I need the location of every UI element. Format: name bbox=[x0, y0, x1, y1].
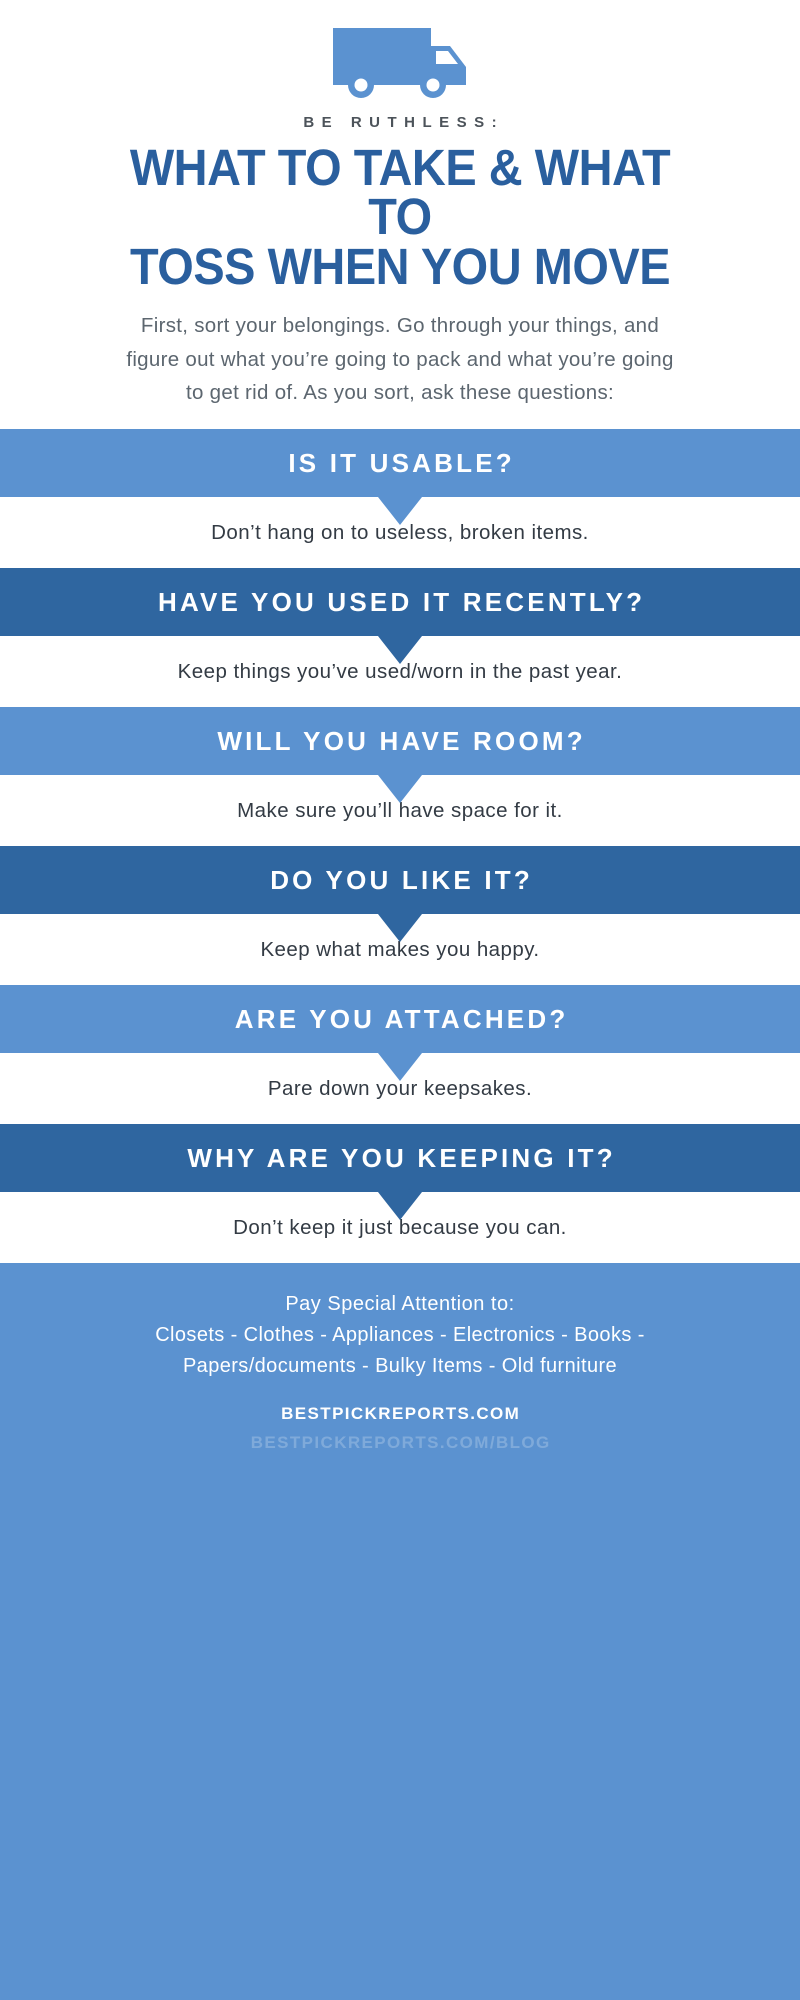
question-list: IS IT USABLE? Don’t hang on to useless, … bbox=[0, 429, 800, 1263]
header-section: BE RUTHLESS: WHAT TO TAKE & WHAT TO TOSS… bbox=[0, 0, 800, 409]
truck-icon-container bbox=[0, 14, 800, 100]
question-band: WILL YOU HAVE ROOM? bbox=[0, 707, 800, 775]
band-notch-icon bbox=[378, 914, 422, 942]
question-title: HAVE YOU USED IT RECENTLY? bbox=[155, 587, 645, 618]
question-title: WHY ARE YOU KEEPING IT? bbox=[184, 1143, 616, 1174]
footer-lead-text: Pay Special Attention to: bbox=[0, 1289, 800, 1320]
question-title: IS IT USABLE? bbox=[285, 448, 515, 479]
footer-section: Pay Special Attention to: Closets - Clot… bbox=[0, 1263, 800, 2000]
question-title: WILL YOU HAVE ROOM? bbox=[214, 726, 586, 757]
question-band: DO YOU LIKE IT? bbox=[0, 846, 800, 914]
qa-block: WHY ARE YOU KEEPING IT? Don’t keep it ju… bbox=[0, 1124, 800, 1263]
band-notch-icon bbox=[378, 775, 422, 803]
moving-truck-icon bbox=[325, 20, 475, 100]
question-band: IS IT USABLE? bbox=[0, 429, 800, 497]
band-notch-icon bbox=[378, 497, 422, 525]
qa-block: DO YOU LIKE IT? Keep what makes you happ… bbox=[0, 846, 800, 985]
qa-block: ARE YOU ATTACHED? Pare down your keepsak… bbox=[0, 985, 800, 1124]
qa-block: WILL YOU HAVE ROOM? Make sure you’ll hav… bbox=[0, 707, 800, 846]
question-band: HAVE YOU USED IT RECENTLY? bbox=[0, 568, 800, 636]
headline-line-1: WHAT TO TAKE & WHAT TO bbox=[96, 143, 703, 242]
footer-items-line-1: Closets - Clothes - Appliances - Electro… bbox=[20, 1320, 780, 1351]
footer-website-url-secondary[interactable]: BESTPICKREPORTS.COM/BLOG bbox=[0, 1433, 800, 1453]
eyebrow-text: BE RUTHLESS: bbox=[0, 114, 800, 131]
headline-line-2: TOSS WHEN YOU MOVE bbox=[96, 242, 703, 291]
intro-paragraph: First, sort your belongings. Go through … bbox=[115, 309, 685, 409]
question-band: WHY ARE YOU KEEPING IT? bbox=[0, 1124, 800, 1192]
page-title: WHAT TO TAKE & WHAT TO TOSS WHEN YOU MOV… bbox=[96, 143, 703, 291]
question-title: DO YOU LIKE IT? bbox=[267, 865, 533, 896]
qa-block: HAVE YOU USED IT RECENTLY? Keep things y… bbox=[0, 568, 800, 707]
band-notch-icon bbox=[378, 1192, 422, 1220]
footer-website-url[interactable]: BESTPICKREPORTS.COM bbox=[0, 1404, 800, 1424]
band-notch-icon bbox=[378, 636, 422, 664]
band-notch-icon bbox=[378, 1053, 422, 1081]
footer-items-line-2: Papers/documents - Bulky Items - Old fur… bbox=[20, 1351, 780, 1382]
infographic-page: BE RUTHLESS: WHAT TO TAKE & WHAT TO TOSS… bbox=[0, 0, 800, 2000]
question-band: ARE YOU ATTACHED? bbox=[0, 985, 800, 1053]
qa-block: IS IT USABLE? Don’t hang on to useless, … bbox=[0, 429, 800, 568]
question-title: ARE YOU ATTACHED? bbox=[232, 1004, 569, 1035]
